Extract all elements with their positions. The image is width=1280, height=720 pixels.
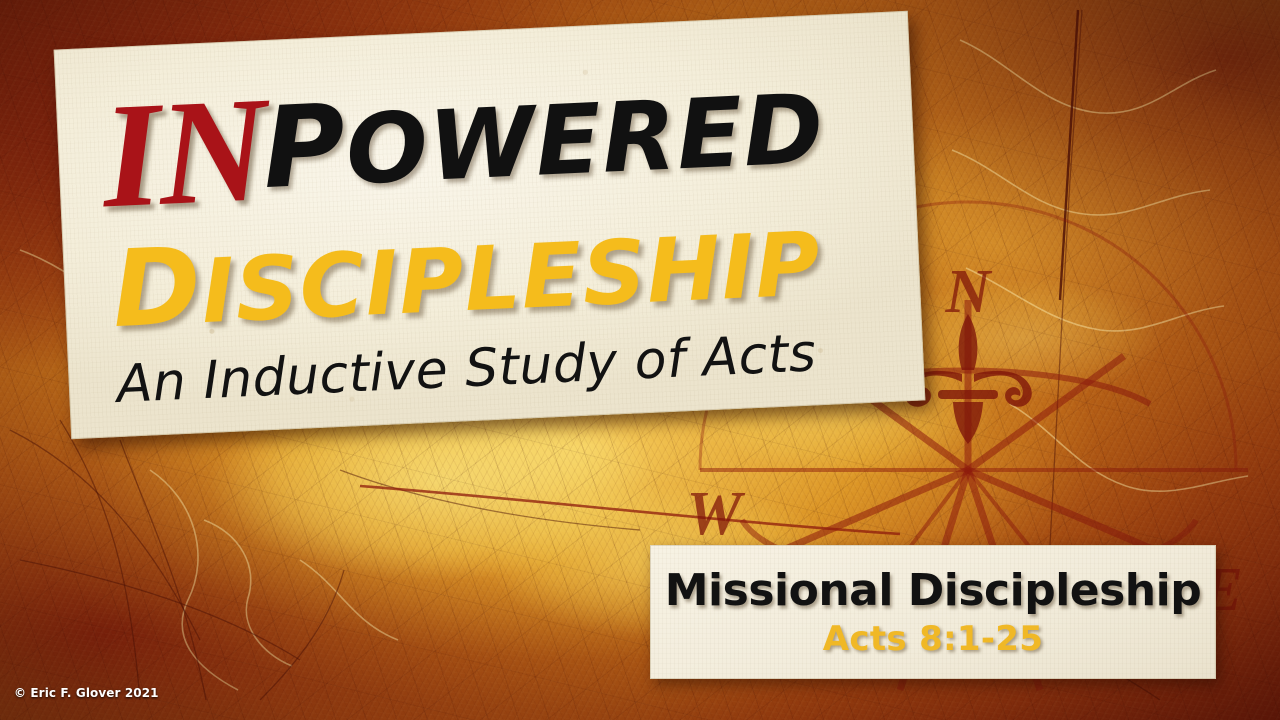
title-word-discipleship-rest: ISCIPLESHIP: [199, 212, 822, 343]
copyright-notice: © Eric F. Glover 2021: [14, 686, 159, 700]
presentation-slide: N W E INPOWERED DISCIPLESHIP An Inductiv…: [0, 0, 1280, 720]
subject-scripture-reference: Acts 8:1-25: [823, 622, 1043, 656]
title-word-powered: POWERED: [261, 73, 827, 210]
title-word-powered-capital: P: [260, 80, 349, 214]
title-panel: INPOWERED DISCIPLESHIP An Inductive Stud…: [54, 11, 926, 439]
title-word-powered-rest: OWERED: [344, 73, 827, 207]
title-line-inpowered: INPOWERED: [99, 49, 829, 232]
title-word-in: IN: [99, 66, 269, 239]
subject-box: Missional Discipleship Acts 8:1-25: [650, 545, 1216, 679]
title-word-discipleship-capital: D: [110, 224, 204, 351]
subject-title: Missional Discipleship: [665, 568, 1201, 614]
